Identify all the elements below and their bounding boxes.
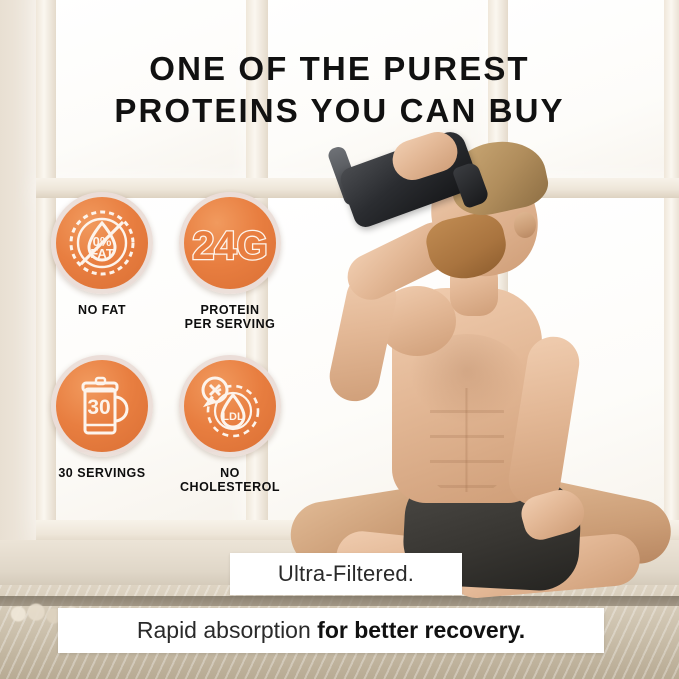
feature-row-bottom: 30 30 SERVINGS LDL (38, 355, 294, 494)
feature-label: PROTEIN PER SERVING (185, 303, 276, 331)
feature-label: NO CHOLESTEROL (180, 466, 280, 494)
protein-grams-icon: 24G (189, 215, 271, 271)
svg-text:FAT: FAT (90, 246, 114, 261)
feature-no-fat[interactable]: 0% FAT NO FAT (38, 192, 166, 331)
feature-protein-per-serving[interactable]: 24G PROTEIN PER SERVING (166, 192, 294, 331)
ultra-filtered-text: Ultra-Filtered. (278, 561, 414, 587)
badge-circle: 24G (179, 192, 281, 294)
svg-text:24G: 24G (192, 224, 268, 268)
badge-circle: LDL (179, 355, 281, 457)
badge-circle: 30 (51, 355, 153, 457)
feature-no-cholesterol[interactable]: LDL NO CHOLESTEROL (166, 355, 294, 494)
svg-text:LDL: LDL (222, 411, 244, 423)
headline-line-2: PROTEINS YOU CAN BUY (0, 90, 679, 132)
headline-line-1: ONE OF THE PUREST (149, 50, 529, 87)
rapid-absorption-text: Rapid absorption for better recovery. (137, 617, 525, 644)
no-fat-droplet-icon: 0% FAT (65, 206, 139, 280)
badge-circle: 0% FAT (51, 192, 153, 294)
ear (514, 212, 536, 238)
feature-badge-grid: 0% FAT NO FAT 24G PROTEIN PER SERVING (38, 192, 294, 494)
abdominals (430, 388, 504, 492)
marketing-banner: ONE OF THE PUREST PROTEINS YOU CAN BUY 0… (0, 0, 679, 679)
ultra-filtered-banner: Ultra-Filtered. (230, 553, 462, 595)
page-title: ONE OF THE PUREST PROTEINS YOU CAN BUY (0, 48, 679, 132)
feature-label: NO FAT (78, 303, 126, 317)
no-cholesterol-ldl-icon: LDL (193, 369, 267, 443)
shaker-cup-icon: 30 (65, 369, 139, 443)
rapid-absorption-banner: Rapid absorption for better recovery. (58, 608, 604, 653)
rapid-absorption-bold: for better recovery. (317, 617, 525, 643)
svg-text:30: 30 (87, 396, 110, 419)
feature-30-servings[interactable]: 30 30 SERVINGS (38, 355, 166, 494)
feature-label: 30 SERVINGS (58, 466, 145, 480)
feature-row-top: 0% FAT NO FAT 24G PROTEIN PER SERVING (38, 192, 294, 331)
rapid-absorption-regular: Rapid absorption (137, 617, 317, 643)
